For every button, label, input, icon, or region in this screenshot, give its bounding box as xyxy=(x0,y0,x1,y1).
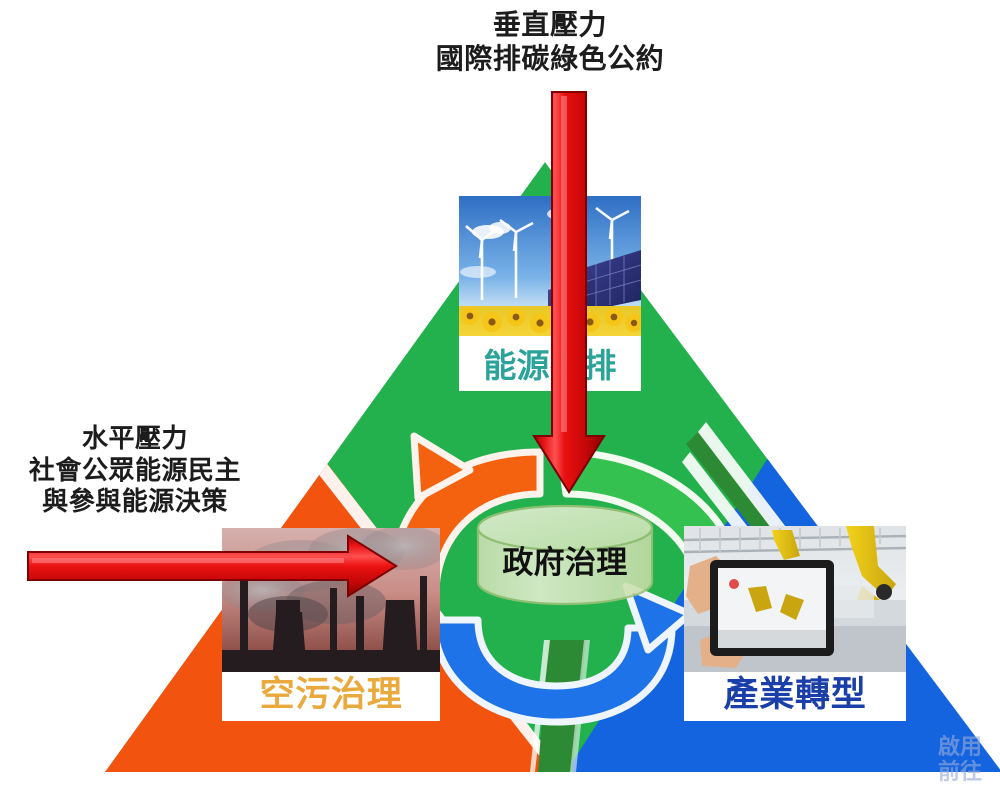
node-air-label: 空污治理 xyxy=(222,672,440,721)
horizontal-pressure-caption: 水平壓力 社會公眾能源民主 與參與能源決策 xyxy=(0,424,274,519)
diagram-canvas: 垂直壓力 國際排碳綠色公約 水平壓力 社會公眾能源民主 與參與能源決策 能源碳排… xyxy=(0,0,1000,800)
vertical-pressure-caption: 垂直壓力 國際排碳綠色公約 xyxy=(380,8,720,76)
node-air: 空污治理 xyxy=(222,528,440,721)
governance-label: 政府治理 xyxy=(480,537,650,582)
watermark-text: 啟用 前往 xyxy=(938,735,1000,786)
node-industry-label: 產業轉型 xyxy=(684,672,906,721)
node-industry: 產業轉型 xyxy=(684,526,906,721)
node-energy: 能源碳排 xyxy=(459,196,641,391)
node-energy-label: 能源碳排 xyxy=(459,344,641,391)
